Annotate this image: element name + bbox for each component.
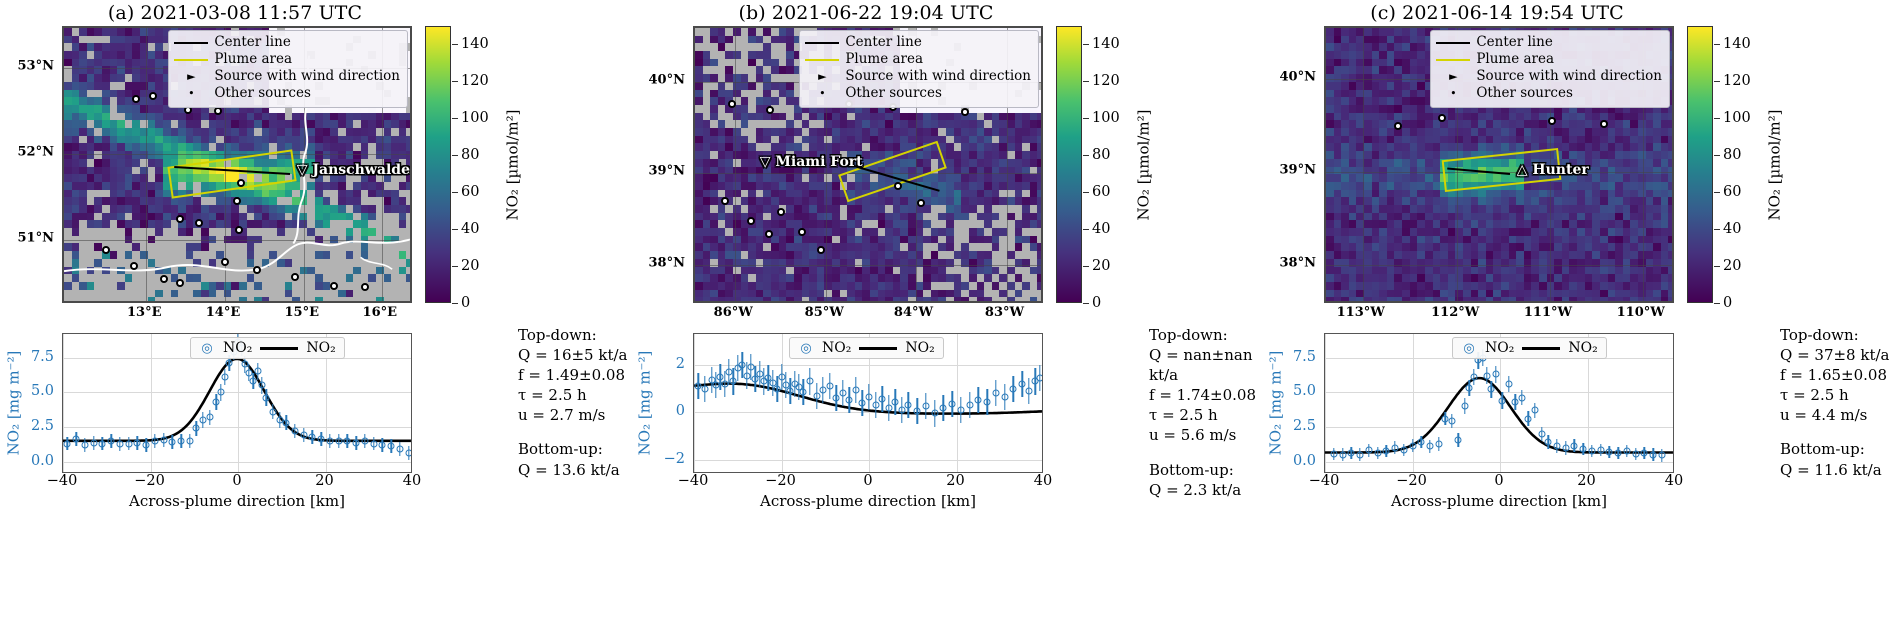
other-source-marker xyxy=(1600,120,1608,128)
data-point xyxy=(1518,394,1525,401)
map-x-tick-labels: 113°W112°W111°W110°W xyxy=(1262,303,1674,325)
plot-y-tick: 5.0 xyxy=(31,383,54,399)
colorbar-tick-label: 100 xyxy=(1092,110,1120,126)
panel-b: (b) 2021-06-22 19:04 UTC▽ Miami FortCent… xyxy=(631,0,1261,629)
fit-line-icon xyxy=(1522,347,1560,350)
colorbar-tick-mark xyxy=(1083,229,1089,230)
no2-map[interactable]: △ HunterCenter linePlume area►Source wit… xyxy=(1324,26,1674,303)
other-source-marker xyxy=(817,246,825,254)
stats-spacer xyxy=(518,425,633,439)
bottomup-header: Bottom-up: xyxy=(1780,439,1892,459)
data-point xyxy=(116,441,123,448)
colorbar-tick-label: 40 xyxy=(1092,221,1110,237)
map-legend-label: Source with wind direction xyxy=(214,68,400,85)
data-point xyxy=(1580,446,1587,453)
data-point xyxy=(984,398,991,405)
data-point xyxy=(1545,439,1552,446)
colorbar-tick-label: 0 xyxy=(461,295,470,311)
plot-x-tick: 0 xyxy=(232,473,241,489)
data-point xyxy=(226,360,233,367)
map-legend-label: Center line xyxy=(845,34,922,51)
colorbar xyxy=(1687,26,1713,303)
map-legend-label: Other sources xyxy=(845,85,942,102)
data-point xyxy=(1470,373,1477,380)
other-source-marker xyxy=(176,279,184,287)
fit-line-icon xyxy=(859,347,897,350)
data-point xyxy=(1462,403,1469,410)
data-point xyxy=(992,390,999,397)
triangle-marker-icon: ► xyxy=(1436,70,1470,84)
data-point xyxy=(1525,415,1532,422)
data-point xyxy=(914,408,921,415)
no2-map[interactable]: ▽ JanschwaldeCenter linePlume area►Sourc… xyxy=(62,26,412,303)
data-point xyxy=(263,394,270,401)
data-point xyxy=(213,398,220,405)
map-legend-item: Plume area xyxy=(805,51,1031,68)
other-source-marker xyxy=(798,228,806,236)
data-point xyxy=(885,404,892,411)
data-point xyxy=(335,438,342,445)
map-legend-item: ►Source with wind direction xyxy=(805,68,1031,85)
map-legend-item: Plume area xyxy=(174,51,400,68)
plot-x-tick: −20 xyxy=(765,473,796,489)
triangle-marker-icon: ► xyxy=(174,70,208,84)
plot-x-tick: 20 xyxy=(1577,473,1595,489)
data-point xyxy=(81,441,88,448)
plot-y-tick: 0.0 xyxy=(31,453,54,469)
data-point xyxy=(813,392,820,399)
data-point xyxy=(254,368,261,375)
map-x-tick: 13°E xyxy=(127,305,162,320)
other-source-marker xyxy=(765,230,773,238)
plot-x-tick-labels: −40−2002040 xyxy=(0,473,412,493)
topdown-header: Top-down: xyxy=(518,325,633,345)
other-source-marker xyxy=(330,282,338,290)
scatter-marker-icon: ◎ xyxy=(798,341,814,356)
other-source-marker xyxy=(253,266,261,274)
other-source-marker xyxy=(160,275,168,283)
topdown-tau: τ = 2.5 h xyxy=(1149,405,1264,425)
map-y-tick-labels: 40°N39°N38°N xyxy=(631,26,691,303)
other-source-marker xyxy=(221,258,229,266)
data-point xyxy=(90,439,97,446)
plot-x-tick: 20 xyxy=(946,473,964,489)
plot-x-axis-title: Across-plume direction [km] xyxy=(693,492,1043,510)
dot-marker-icon: • xyxy=(805,87,839,101)
data-point xyxy=(361,438,368,445)
plot-legend-line-label: NO₂ xyxy=(1568,340,1597,356)
center-line-icon xyxy=(1436,42,1470,44)
data-point xyxy=(1010,385,1017,392)
stats-block: Top-down:Q = 16±5 kt/af = 1.49±0.08τ = 2… xyxy=(518,325,633,480)
other-source-marker xyxy=(361,283,369,291)
colorbar xyxy=(1056,26,1082,303)
map-y-tick: 40°N xyxy=(1280,70,1316,85)
plot-x-tick-labels: −40−2002040 xyxy=(631,473,1043,493)
map-x-tick: 86°W xyxy=(714,305,753,320)
data-point xyxy=(250,378,257,385)
data-point xyxy=(756,371,763,378)
data-point xyxy=(178,438,185,445)
other-source-marker xyxy=(102,246,110,254)
colorbar-tick-label: 120 xyxy=(461,73,489,89)
stats-spacer xyxy=(1149,446,1264,460)
data-point xyxy=(396,446,403,453)
colorbar-tick-mark xyxy=(1714,303,1720,304)
data-point xyxy=(701,385,708,392)
plot-legend-scatter-label: NO₂ xyxy=(822,340,851,356)
stats-spacer xyxy=(1780,425,1892,439)
data-point xyxy=(717,373,724,380)
colorbar-tick-mark xyxy=(1714,81,1720,82)
data-point xyxy=(826,383,833,390)
data-point xyxy=(300,432,307,439)
colorbar-tick-mark xyxy=(452,155,458,156)
plot-x-tick: 40 xyxy=(1665,473,1683,489)
map-x-tick-labels: 86°W85°W84°W83°W xyxy=(631,303,1043,325)
map-legend-item: Center line xyxy=(1436,34,1662,51)
colorbar-tick-mark xyxy=(1083,303,1089,304)
colorbar-tick-label: 100 xyxy=(461,110,489,126)
data-point xyxy=(800,389,807,396)
plot-x-tick-labels: −40−2002040 xyxy=(1262,473,1674,493)
data-point xyxy=(747,364,754,371)
colorbar-tick-label: 80 xyxy=(1092,147,1110,163)
data-point xyxy=(1623,448,1630,455)
colorbar-tick-label: 140 xyxy=(1092,36,1120,52)
data-point xyxy=(1488,386,1495,393)
plot-legend: ◎NO₂NO₂ xyxy=(789,337,944,359)
data-point xyxy=(1562,444,1569,451)
plot-y-tick: 2 xyxy=(676,356,685,372)
map-x-tick: 111°W xyxy=(1524,305,1572,320)
colorbar-tick-mark xyxy=(1714,118,1720,119)
data-point xyxy=(1597,446,1604,453)
bottomup-emission: Q = 11.6 kt/a xyxy=(1780,460,1892,480)
data-point xyxy=(949,401,956,408)
data-point xyxy=(1001,393,1008,400)
colorbar-tick-mark xyxy=(1714,44,1720,45)
plot-x-tick: −20 xyxy=(134,473,165,489)
map-legend-label: Source with wind direction xyxy=(845,68,1031,85)
data-point xyxy=(721,380,728,387)
colorbar-tick-label: 120 xyxy=(1723,73,1751,89)
data-point xyxy=(283,419,290,426)
plot-legend-scatter-label: NO₂ xyxy=(223,340,252,356)
data-point xyxy=(1348,450,1355,457)
dot-marker-icon: • xyxy=(174,87,208,101)
map-gridline xyxy=(1363,28,1364,301)
data-point xyxy=(245,369,252,376)
data-point xyxy=(143,441,150,448)
map-legend: Center linePlume area►Source with wind d… xyxy=(168,30,408,108)
colorbar-tick-mark xyxy=(452,81,458,82)
data-point xyxy=(1553,443,1560,450)
other-source-marker xyxy=(777,208,785,216)
colorbar-tick-label: 100 xyxy=(1723,110,1751,126)
map-x-tick: 84°W xyxy=(894,305,933,320)
plume-area-icon xyxy=(1436,59,1470,61)
plot-y-tick: −2 xyxy=(664,451,685,467)
map-legend-item: ►Source with wind direction xyxy=(174,68,400,85)
data-point xyxy=(1036,374,1043,381)
data-point xyxy=(1499,397,1506,404)
data-point xyxy=(859,399,866,406)
center-line-icon xyxy=(805,42,839,44)
colorbar-tick-mark xyxy=(1083,266,1089,267)
data-point xyxy=(1658,452,1665,459)
data-point xyxy=(1357,451,1364,458)
topdown-f: f = 1.65±0.08 xyxy=(1780,365,1892,385)
data-point xyxy=(1330,450,1337,457)
map-legend-label: Other sources xyxy=(214,85,311,102)
plot-x-tick: 40 xyxy=(1034,473,1052,489)
colorbar-tick-label: 120 xyxy=(1092,73,1120,89)
triangle-marker-icon: ► xyxy=(805,70,839,84)
colorbar-axis-label: NO₂ [µmol/m²] xyxy=(500,26,524,303)
panel-title: (c) 2021-06-14 19:54 UTC xyxy=(1262,2,1732,24)
fit-line-icon xyxy=(260,347,298,350)
plot-legend-scatter-label: NO₂ xyxy=(1485,340,1514,356)
colorbar-tick-mark xyxy=(1083,44,1089,45)
map-y-tick: 52°N xyxy=(18,145,54,160)
colorbar-tick-mark xyxy=(1083,155,1089,156)
panel-title: (a) 2021-03-08 11:57 UTC xyxy=(0,2,470,24)
other-source-marker xyxy=(1548,117,1556,125)
source-label: ▽ Janschwalde xyxy=(297,162,410,178)
plot-legend: ◎NO₂NO₂ xyxy=(1452,337,1607,359)
data-point xyxy=(931,410,938,417)
data-point xyxy=(344,437,351,444)
data-point xyxy=(405,450,412,457)
panel-title: (b) 2021-06-22 19:04 UTC xyxy=(631,2,1101,24)
colorbar-tick-mark xyxy=(452,118,458,119)
data-point xyxy=(1448,418,1455,425)
colorbar-axis-label: NO₂ [µmol/m²] xyxy=(1131,26,1155,303)
map-legend-label: Source with wind direction xyxy=(1476,68,1662,85)
data-point xyxy=(879,396,886,403)
colorbar-tick-label: 0 xyxy=(1723,295,1732,311)
data-point xyxy=(739,361,746,368)
data-point xyxy=(846,397,853,404)
topdown-f: f = 1.49±0.08 xyxy=(518,365,633,385)
map-legend-item: •Other sources xyxy=(1436,85,1662,102)
topdown-emission: Q = 16±5 kt/a xyxy=(518,345,633,365)
data-point xyxy=(1409,442,1416,449)
colorbar-tick-mark xyxy=(1083,118,1089,119)
colorbar-tick-mark xyxy=(452,303,458,304)
map-x-tick: 113°W xyxy=(1337,305,1385,320)
stats-block: Top-down:Q = nan±nan kt/af = 1.74±0.08τ … xyxy=(1149,325,1264,500)
data-point xyxy=(1588,448,1595,455)
data-point xyxy=(241,361,248,368)
colorbar-axis-label: NO₂ [µmol/m²] xyxy=(1762,26,1786,303)
source-label: ▽ Miami Fort xyxy=(760,154,863,170)
map-gridline xyxy=(64,154,410,155)
plot-x-tick: 0 xyxy=(1494,473,1503,489)
colorbar-tick-mark xyxy=(1714,192,1720,193)
map-y-tick: 51°N xyxy=(18,230,54,245)
colorbar-tick-mark xyxy=(1714,229,1720,230)
data-point xyxy=(852,386,859,393)
bottomup-emission: Q = 2.3 kt/a xyxy=(1149,480,1264,500)
topdown-emission: Q = nan±nan kt/a xyxy=(1149,345,1264,385)
bottomup-header: Bottom-up: xyxy=(1149,460,1264,480)
other-source-marker xyxy=(747,217,755,225)
data-point xyxy=(309,434,316,441)
map-y-tick: 38°N xyxy=(1280,255,1316,270)
plot-y-axis-title: NO₂ [mg m⁻²] xyxy=(633,333,655,473)
data-point xyxy=(774,385,781,392)
colorbar-tick-label: 80 xyxy=(1723,147,1741,163)
source-wind-direction-marker: △ xyxy=(1517,162,1528,178)
data-point xyxy=(151,437,158,444)
map-x-tick-labels: 13°E14°E15°E16°E xyxy=(0,303,412,325)
map-legend-item: Plume area xyxy=(1436,51,1662,68)
data-point xyxy=(217,389,224,396)
data-point xyxy=(1641,450,1648,457)
colorbar-tick-mark xyxy=(1714,266,1720,267)
colorbar-tick-label: 20 xyxy=(1092,258,1110,274)
data-point xyxy=(1650,451,1657,458)
data-point xyxy=(1615,450,1622,457)
data-point xyxy=(1339,451,1346,458)
map-y-tick-labels: 40°N39°N38°N xyxy=(1262,26,1322,303)
map-y-tick: 40°N xyxy=(649,73,685,88)
data-point xyxy=(1392,444,1399,451)
plot-y-tick: 2.5 xyxy=(31,418,54,434)
map-x-tick: 112°W xyxy=(1431,305,1479,320)
data-point xyxy=(778,373,785,380)
data-point xyxy=(108,437,115,444)
colorbar-tick-label: 60 xyxy=(461,184,479,200)
other-source-marker xyxy=(195,219,203,227)
data-point xyxy=(186,437,193,444)
topdown-header: Top-down: xyxy=(1780,325,1892,345)
colorbar-tick-label: 80 xyxy=(461,147,479,163)
plot-x-axis-title: Across-plume direction [km] xyxy=(1324,492,1674,510)
colorbar-tick-label: 60 xyxy=(1092,184,1110,200)
data-point xyxy=(134,439,141,446)
colorbar-tick-label: 60 xyxy=(1723,184,1741,200)
colorbar-tick-mark xyxy=(1714,155,1720,156)
data-point xyxy=(160,437,167,444)
data-point xyxy=(833,395,840,402)
topdown-wind: u = 4.4 m/s xyxy=(1780,405,1892,425)
plot-y-tick: 7.5 xyxy=(1293,349,1316,365)
data-point xyxy=(169,439,176,446)
plot-y-tick: 5.0 xyxy=(1293,383,1316,399)
other-source-marker xyxy=(1438,114,1446,122)
bottomup-emission: Q = 13.6 kt/a xyxy=(518,460,633,480)
map-y-tick: 39°N xyxy=(1280,163,1316,178)
other-source-marker xyxy=(176,215,184,223)
map-x-tick: 16°E xyxy=(363,305,398,320)
source-label: △ Hunter xyxy=(1517,162,1589,178)
plot-y-tick: 7.5 xyxy=(31,349,54,365)
data-point xyxy=(379,441,386,448)
plume-area-icon xyxy=(174,59,208,61)
data-point xyxy=(839,390,846,397)
other-source-marker xyxy=(917,199,925,207)
plot-y-tick: 0 xyxy=(676,403,685,419)
data-point xyxy=(221,373,228,380)
map-legend-item: ►Source with wind direction xyxy=(1436,68,1662,85)
map-y-tick: 39°N xyxy=(649,164,685,179)
data-point xyxy=(743,372,750,379)
no2-map[interactable]: ▽ Miami FortCenter linePlume area►Source… xyxy=(693,26,1043,303)
data-point xyxy=(866,393,873,400)
map-y-tick-labels: 53°N52°N51°N xyxy=(0,26,60,303)
scatter-marker-icon: ◎ xyxy=(1461,341,1477,356)
plot-x-tick: −40 xyxy=(47,473,78,489)
other-source-marker xyxy=(721,197,729,205)
data-point xyxy=(1455,437,1462,444)
data-point xyxy=(270,408,277,415)
data-point xyxy=(1374,450,1381,457)
plot-x-axis-title: Across-plume direction [km] xyxy=(62,492,412,510)
other-source-marker xyxy=(132,95,140,103)
data-point xyxy=(730,378,737,385)
data-point xyxy=(898,406,905,413)
map-legend-label: Plume area xyxy=(214,51,292,68)
data-point xyxy=(1505,380,1512,387)
plot-x-tick: 40 xyxy=(403,473,421,489)
stats-block: Top-down:Q = 37±8 kt/af = 1.65±0.08τ = 2… xyxy=(1780,325,1892,480)
data-point xyxy=(1512,398,1519,405)
other-source-marker xyxy=(766,106,774,114)
data-point xyxy=(726,368,733,375)
data-point xyxy=(326,437,333,444)
data-point xyxy=(1571,442,1578,449)
topdown-tau: τ = 2.5 h xyxy=(1780,385,1892,405)
plot-y-axis-title: NO₂ [mg m⁻²] xyxy=(2,333,24,473)
map-gridline xyxy=(695,265,1041,266)
plot-y-tick: 0.0 xyxy=(1293,453,1316,469)
map-y-tick: 38°N xyxy=(649,255,685,270)
plot-x-tick: −40 xyxy=(678,473,709,489)
other-source-marker xyxy=(894,182,902,190)
map-legend-label: Center line xyxy=(1476,34,1553,51)
data-point xyxy=(940,404,947,411)
data-point xyxy=(892,398,899,405)
data-point xyxy=(1019,380,1026,387)
plot-x-tick: −40 xyxy=(1309,473,1340,489)
colorbar-tick-mark xyxy=(1083,192,1089,193)
topdown-wind: u = 2.7 m/s xyxy=(518,405,633,425)
scatter-marker-icon: ◎ xyxy=(199,341,215,356)
data-point xyxy=(1025,387,1032,394)
data-point xyxy=(99,440,106,447)
bottomup-header: Bottom-up: xyxy=(518,439,633,459)
data-point xyxy=(370,440,377,447)
data-point xyxy=(388,443,395,450)
data-point xyxy=(1466,385,1473,392)
data-point xyxy=(905,402,912,409)
colorbar-tick-label: 20 xyxy=(461,258,479,274)
plume-area-icon xyxy=(805,59,839,61)
plot-legend-line-label: NO₂ xyxy=(306,340,335,356)
map-legend-label: Plume area xyxy=(1476,51,1554,68)
data-point xyxy=(1483,372,1490,379)
data-point xyxy=(193,425,200,432)
colorbar-tick-label: 0 xyxy=(1092,295,1101,311)
colorbar-tick-label: 20 xyxy=(1723,258,1741,274)
topdown-tau: τ = 2.5 h xyxy=(518,385,633,405)
data-point xyxy=(1435,441,1442,448)
map-x-tick: 85°W xyxy=(805,305,844,320)
data-point xyxy=(64,440,71,447)
